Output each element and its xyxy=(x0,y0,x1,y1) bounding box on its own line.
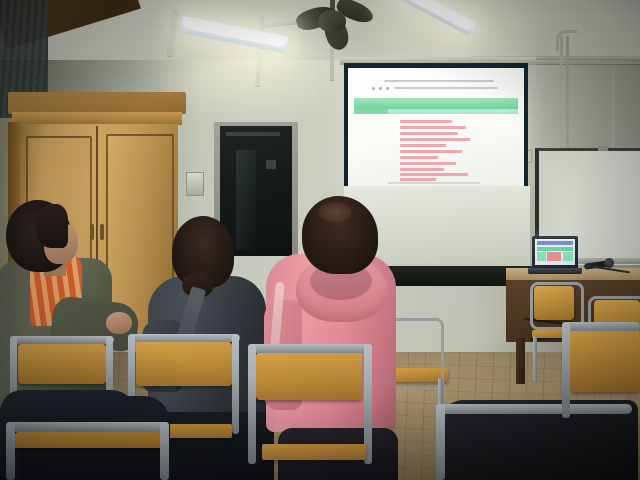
classroom-photo: Classroom presentation with projector sc… xyxy=(0,0,640,480)
vignette-overlay xyxy=(0,0,640,480)
